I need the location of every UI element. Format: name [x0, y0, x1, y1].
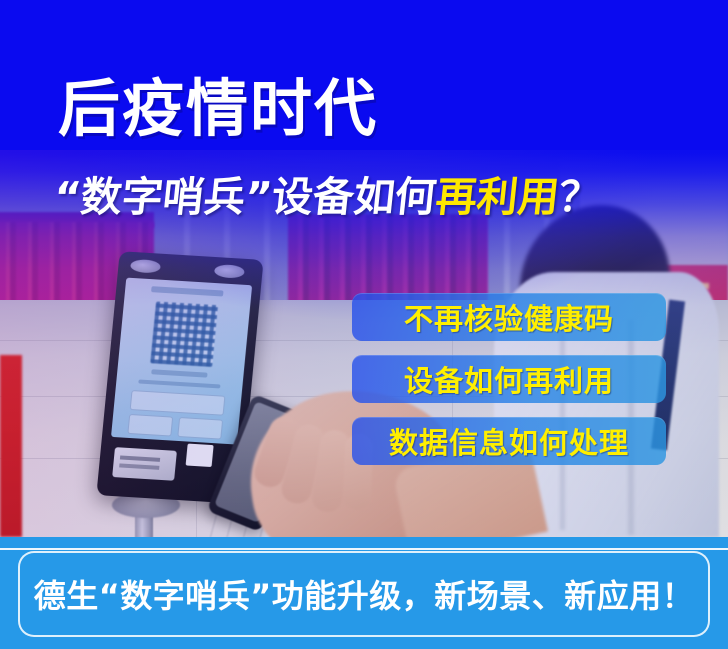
callout-item-3[interactable]: 数据信息如何处理	[352, 417, 666, 465]
photo-kiosk-screen	[111, 278, 252, 445]
bottom-banner-zone: 德生“数字哨兵”功能升级，新场景、新应用！	[0, 537, 728, 649]
callout-label-3: 数据信息如何处理	[389, 420, 629, 462]
poster-canvas: 后疫情时代 “数字哨兵”设备如何再利用？ 不再核验健康码 设备如何再利用 数据信…	[0, 0, 728, 649]
callout-item-1[interactable]: 不再核验健康码	[352, 293, 666, 341]
photo-red-edge	[0, 355, 22, 537]
page-title: 后疫情时代	[58, 78, 378, 140]
bottom-banner[interactable]: 德生“数字哨兵”功能升级，新场景、新应用！	[18, 551, 710, 637]
subtitle-highlight: 再利用	[433, 173, 561, 221]
bottom-banner-text: 德生“数字哨兵”功能升级，新场景、新应用！	[34, 571, 695, 617]
subtitle-question-mark: ？	[556, 173, 602, 221]
callout-item-2[interactable]: 设备如何再利用	[352, 355, 666, 403]
subtitle-lead: “数字哨兵”设备如何	[52, 173, 439, 221]
callout-label-2: 设备如何再利用	[404, 358, 614, 400]
banner-top-divider	[0, 548, 728, 550]
photo-kiosk-indicator	[186, 444, 214, 467]
photo-kiosk-card-reader	[112, 447, 177, 481]
page-subtitle: “数字哨兵”设备如何再利用？	[52, 177, 602, 218]
callout-list: 不再核验健康码 设备如何再利用 数据信息如何处理	[352, 293, 666, 465]
callout-label-1: 不再核验健康码	[404, 296, 614, 338]
